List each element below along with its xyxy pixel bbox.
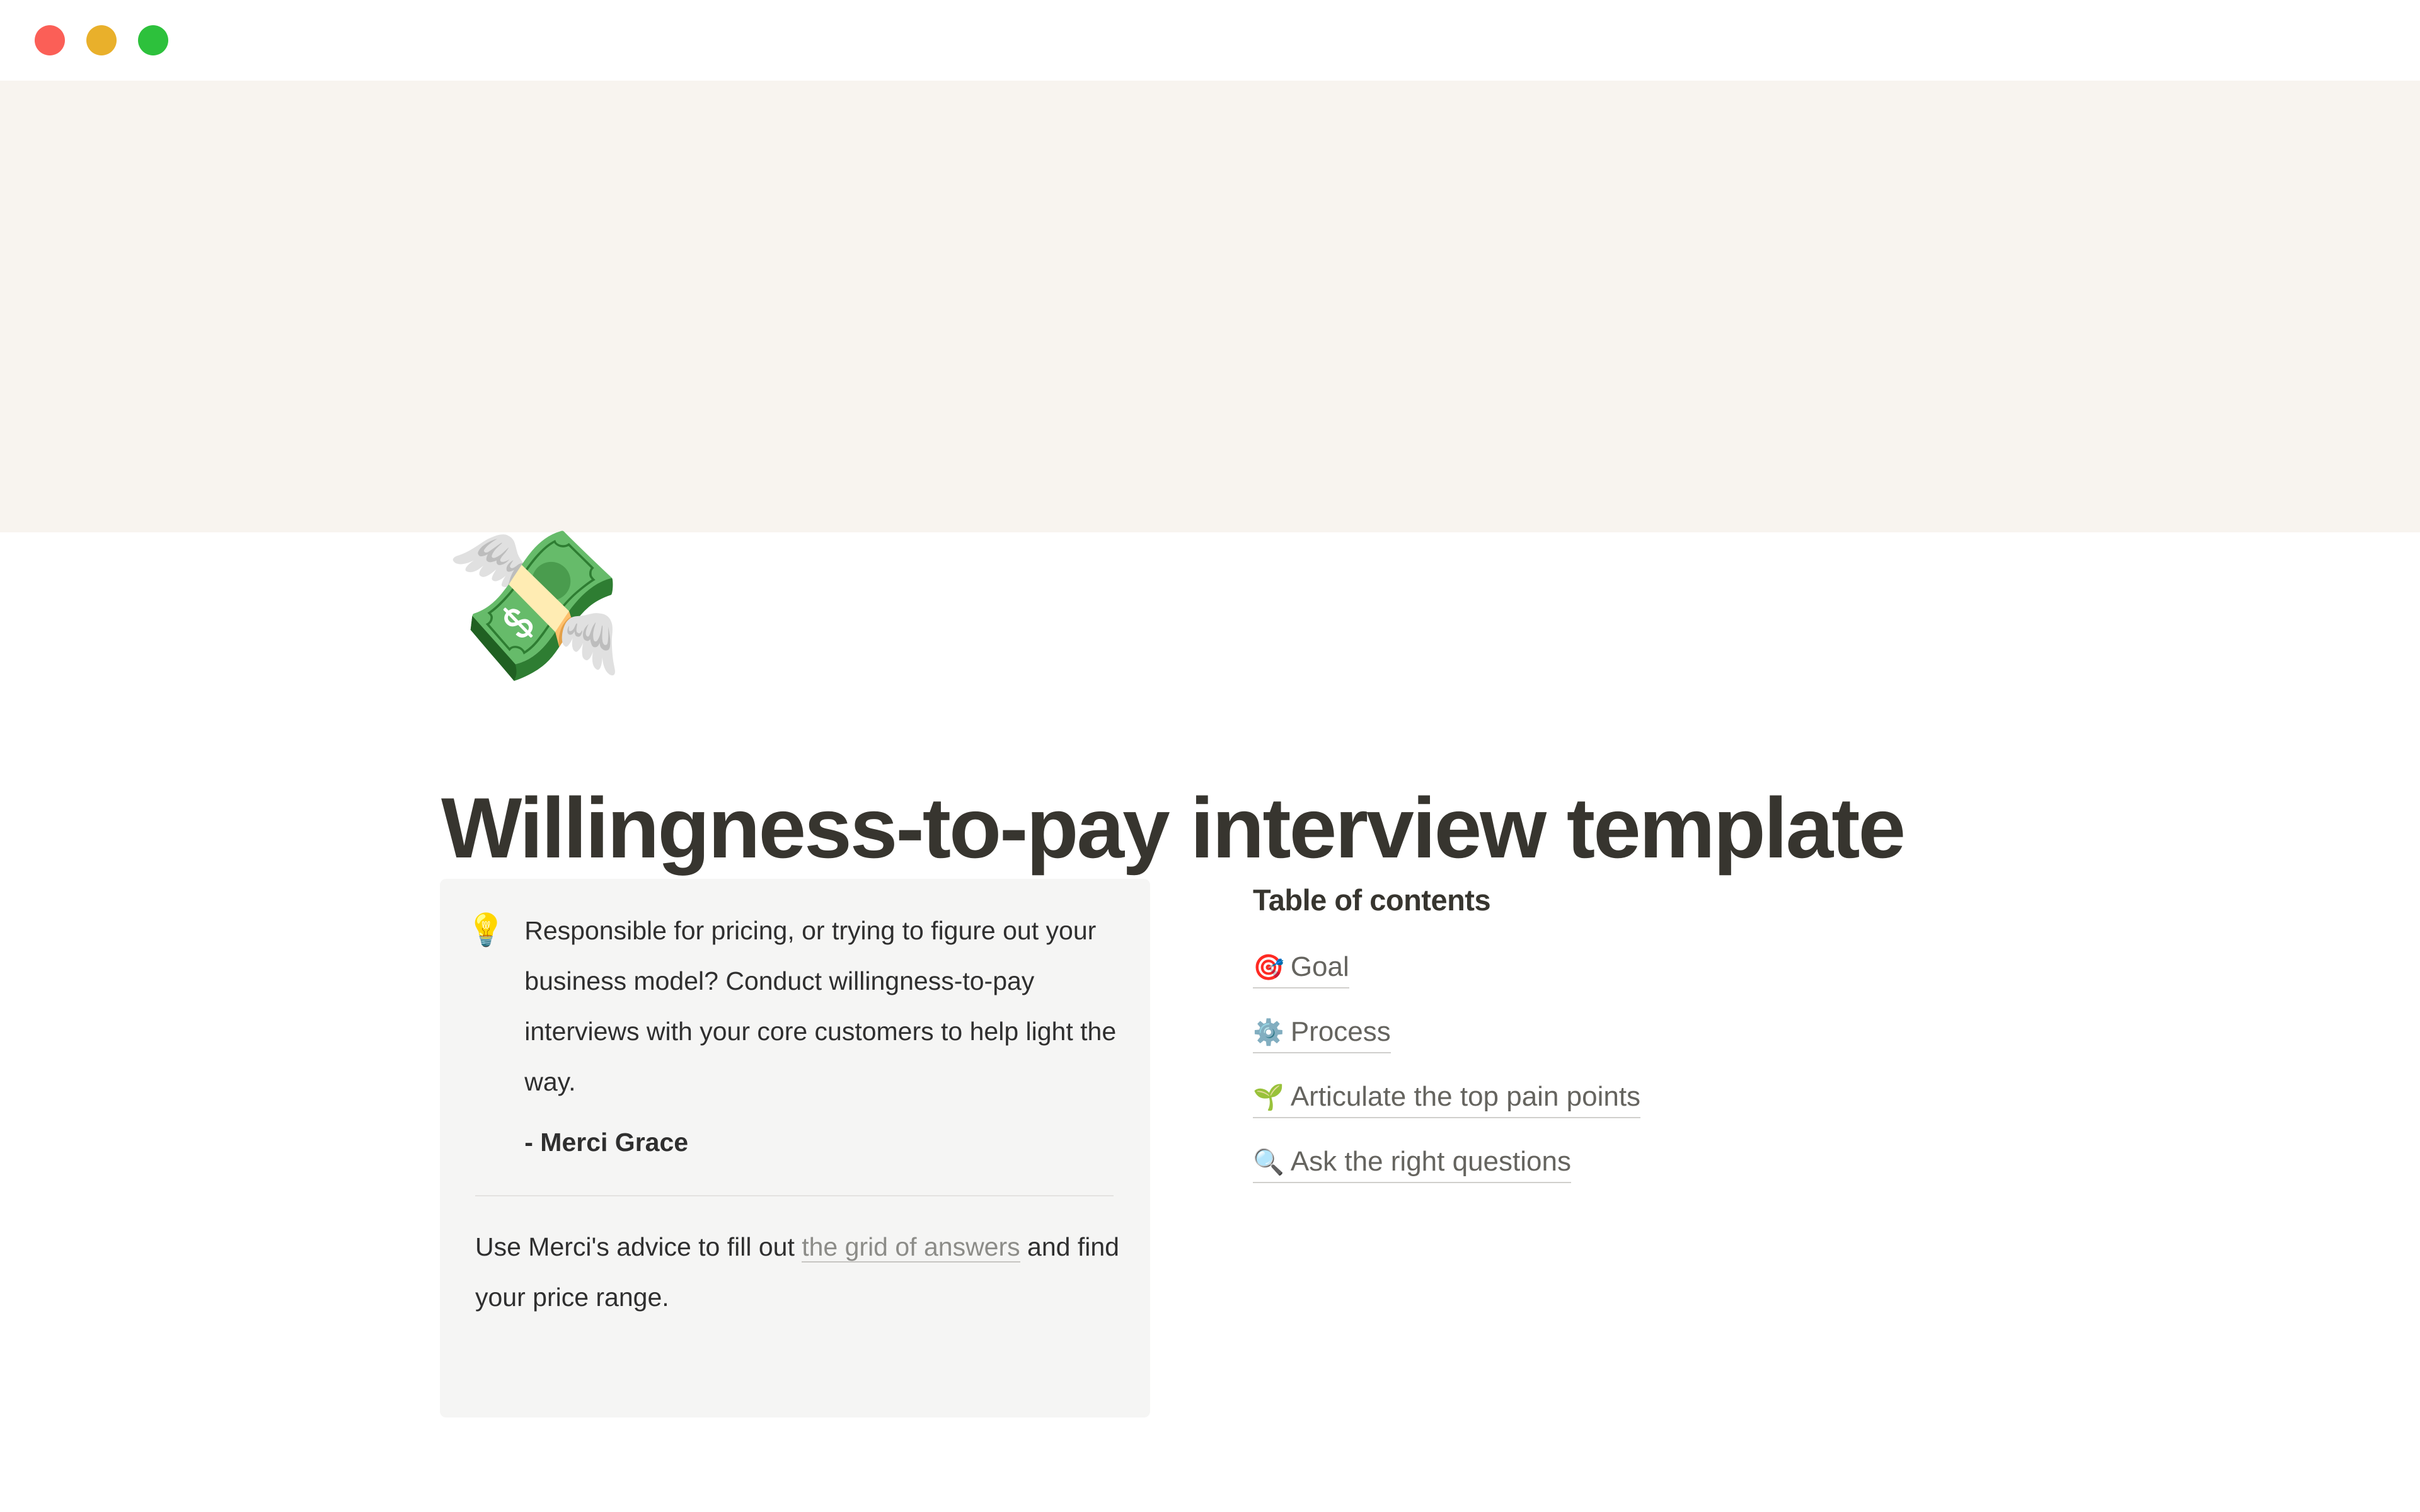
callout-body-text: Responsible for pricing, or trying to fi… — [524, 905, 1121, 1107]
toc-item-label: Articulate the top pain points — [1291, 1081, 1640, 1112]
window-titlebar — [0, 0, 2420, 81]
magnifying-glass-icon: 🔍 — [1253, 1148, 1284, 1176]
document-page: 💸 Willingness-to-pay interview template … — [0, 81, 2420, 1512]
bullseye-icon: 🎯 — [1253, 954, 1284, 982]
callout-footer-prefix: Use Merci's advice to fill out — [475, 1232, 802, 1261]
toc-item-label: Ask the right questions — [1291, 1146, 1571, 1177]
light-bulb-icon: 💡 — [466, 905, 505, 1167]
callout-content: 💡 Responsible for pricing, or trying to … — [466, 905, 1121, 1167]
toc-item-process[interactable]: ⚙️Process — [1253, 1012, 1391, 1053]
toc-item-label: Goal — [1291, 951, 1349, 982]
table-of-contents: Table of contents 🎯Goal ⚙️Process 🌱Artic… — [1253, 883, 2072, 1207]
toc-item-articulate-the-top-pain-points[interactable]: 🌱Articulate the top pain points — [1253, 1077, 1640, 1118]
callout-divider — [475, 1195, 1114, 1196]
gear-icon: ⚙️ — [1253, 1019, 1284, 1046]
maximize-window-button[interactable] — [138, 25, 168, 55]
page-icon-emoji[interactable]: 💸 — [444, 533, 626, 679]
grid-of-answers-link[interactable]: the grid of answers — [802, 1232, 1020, 1263]
callout-footer-text: Use Merci's advice to fill out the grid … — [475, 1222, 1121, 1322]
toc-item-goal[interactable]: 🎯Goal — [1253, 948, 1349, 988]
page-title: Willingness-to-pay interview template — [441, 779, 1904, 877]
toc-item-label: Process — [1291, 1016, 1391, 1047]
callout-attribution: - Merci Grace — [524, 1117, 1121, 1167]
callout-block: 💡 Responsible for pricing, or trying to … — [440, 879, 1150, 1417]
toc-item-ask-the-right-questions[interactable]: 🔍Ask the right questions — [1253, 1142, 1571, 1183]
table-of-contents-heading: Table of contents — [1253, 883, 2072, 917]
callout-text-column: Responsible for pricing, or trying to fi… — [524, 905, 1121, 1167]
traffic-light-group — [35, 25, 168, 55]
seedling-icon: 🌱 — [1253, 1084, 1284, 1111]
minimize-window-button[interactable] — [86, 25, 117, 55]
close-window-button[interactable] — [35, 25, 65, 55]
